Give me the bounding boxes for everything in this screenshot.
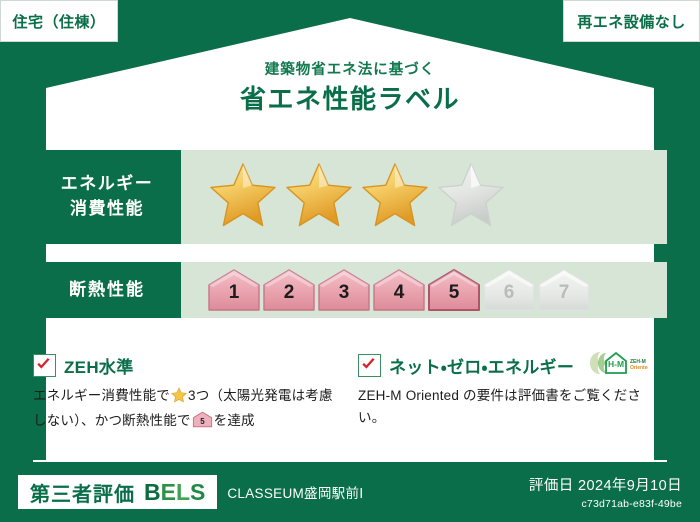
title-subtitle: 建築物省エネ法に基づく <box>0 62 700 79</box>
criterion-zeh-body: エネルギー消費性能で3つ（太陽光発電は考慮しない）、かつ断熱性能で5を達成 <box>33 385 342 435</box>
energy-performance-label-line1: エネルギー <box>61 172 154 197</box>
star-icon-empty <box>437 161 505 233</box>
insulation-performance-value: 1234567 <box>181 262 667 318</box>
grade-chip-6: 6 <box>482 268 536 312</box>
criterion-net-zero-title: ネット・ゼロ・エネルギー <box>389 353 574 378</box>
grade-chip-number: 1 <box>207 283 261 302</box>
criterion-zeh: ZEH水準 エネルギー消費性能で3つ（太陽光発電は考慮しない）、かつ断熱性能で5… <box>33 352 342 435</box>
evaluation-info: 評価日 2024年9月10日 c73d71ab-e83f-49be <box>529 474 682 510</box>
bels-jp-label: 第三者評価 <box>30 478 135 507</box>
zeh-m-oriented-logo: H-M ZEH-M Oriented <box>586 350 648 381</box>
svg-text:Oriented: Oriented <box>630 365 648 371</box>
star-icon-filled <box>361 161 429 233</box>
grade-chip-1: 1 <box>207 268 261 312</box>
check-icon <box>33 354 56 377</box>
grade-chip-7: 7 <box>537 268 591 312</box>
star-icon <box>171 387 187 410</box>
insulation-performance-label-text: 断熱性能 <box>69 278 145 303</box>
energy-performance-label-line2: 消費性能 <box>70 197 144 222</box>
grade-chip-2: 2 <box>262 268 316 312</box>
bels-letter-l: L <box>176 479 190 505</box>
svg-text:5: 5 <box>200 417 205 426</box>
grade-chip-number: 4 <box>372 283 426 302</box>
insulation-performance-row: 断熱性能 1234567 <box>33 262 667 318</box>
star-icon-filled <box>285 161 353 233</box>
star-rating <box>209 161 505 233</box>
renewable-equipment-tag-label: 再エネ設備なし <box>577 11 686 32</box>
criterion-net-zero-energy: ネット・ゼロ・エネルギー H-M ZEH-M Oriented ZEH-M Or… <box>358 352 667 435</box>
bels-logo: 第三者評価 BELS <box>18 475 217 509</box>
bels-wordmark: BELS <box>144 481 205 504</box>
criterion-zeh-title: ZEH水準 <box>64 353 134 378</box>
check-icon <box>358 354 381 377</box>
energy-performance-row: エネルギー 消費性能 <box>33 150 667 244</box>
grade-chip-4: 4 <box>372 268 426 312</box>
star-icon-filled <box>209 161 277 233</box>
grade-chip-number: 7 <box>537 283 591 302</box>
svg-text:H-M: H-M <box>608 359 624 369</box>
energy-performance-label: 住宅（住棟） 再エネ設備なし 建築物省エネ法に基づく 省エネ性能ラベル エネルギ… <box>0 0 700 522</box>
renewable-equipment-tag: 再エネ設備なし <box>563 0 700 42</box>
bels-letter-b: B <box>144 479 161 505</box>
energy-performance-label: エネルギー 消費性能 <box>33 150 181 244</box>
grade-chip-number: 5 <box>427 283 481 302</box>
building-name: CLASSEUM盛岡駅前Ⅰ <box>227 482 363 502</box>
grade-chip-number: 2 <box>262 283 316 302</box>
energy-performance-value <box>181 150 667 244</box>
grade-chip-5: 5 <box>427 268 481 312</box>
bels-letter-s: S <box>190 479 205 505</box>
grade-chip-3: 3 <box>317 268 371 312</box>
evaluation-date: 評価日 2024年9月10日 <box>529 474 682 495</box>
criterion-zeh-header: ZEH水準 <box>33 352 342 378</box>
page-title: 省エネ性能ラベル <box>0 82 700 117</box>
criterion-net-zero-body: ZEH-M Oriented の要件は評価書をご覧ください。 <box>358 385 667 429</box>
grade-scale: 1234567 <box>207 268 591 312</box>
bels-letter-e: E <box>161 479 176 505</box>
criterion-zeh-text-3: を達成 <box>214 413 255 428</box>
criteria-section: ZEH水準 エネルギー消費性能で3つ（太陽光発電は考慮しない）、かつ断熱性能で5… <box>33 352 667 435</box>
building-type-tag-label: 住宅（住棟） <box>12 11 105 32</box>
grade-badge-inline: 5 <box>192 411 213 435</box>
building-type-tag: 住宅（住棟） <box>0 0 118 42</box>
criterion-net-zero-header: ネット・ゼロ・エネルギー H-M ZEH-M Oriented <box>358 352 667 378</box>
footer: 第三者評価 BELS CLASSEUM盛岡駅前Ⅰ 評価日 2024年9月10日 … <box>0 462 700 522</box>
evaluation-id: c73d71ab-e83f-49be <box>529 498 682 510</box>
insulation-performance-label: 断熱性能 <box>33 262 181 318</box>
grade-chip-number: 3 <box>317 283 371 302</box>
criterion-zeh-text-1: エネルギー消費性能で <box>33 388 170 403</box>
label-title-block: 建築物省エネ法に基づく 省エネ性能ラベル <box>0 62 700 117</box>
grade-chip-number: 6 <box>482 283 536 302</box>
